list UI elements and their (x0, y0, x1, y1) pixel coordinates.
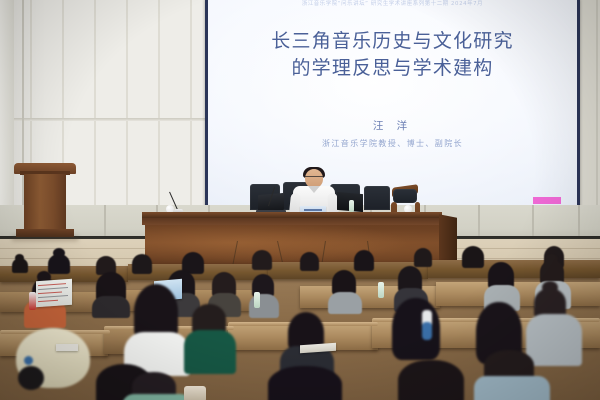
audience-cup-foreground (184, 386, 206, 400)
lectern (14, 163, 76, 241)
slide-speaker-name: 汪 洋 (208, 118, 577, 133)
bench-row-a-far-right (428, 260, 600, 278)
slide-title-line-1: 长三角音乐历史与文化研究 (230, 28, 555, 55)
wall-edge-left (0, 0, 14, 232)
lecture-hall-photo: 浙江音乐学院“问乐讲坛” 研究生学术讲座系列第十二期 2024年7月 长三角音乐… (0, 0, 600, 400)
lectern-top (14, 163, 76, 174)
audience-bottle-clear (378, 282, 384, 298)
glasses-icon (305, 176, 323, 181)
audience-bottle-red (29, 292, 36, 310)
pink-sticker (533, 197, 561, 204)
bench-papers-2 (56, 344, 78, 351)
projection-screen-frame: 浙江音乐学院“问乐讲坛” 研究生学术讲座系列第十二期 2024年7月 长三角音乐… (205, 0, 580, 214)
slide-title: 长三角音乐历史与文化研究 的学理反思与学术建构 (230, 28, 555, 82)
stage-chair-4 (364, 186, 390, 210)
projection-screen: 浙江音乐学院“问乐讲坛” 研究生学术讲座系列第十二期 2024年7月 长三角音乐… (208, 0, 577, 210)
slide-header-text: 浙江音乐学院“问乐讲坛” 研究生学术讲座系列第十二期 2024年7月 (208, 0, 577, 7)
slide-title-line-2: 的学理反思与学术建构 (230, 55, 555, 82)
side-armchair-cushion (393, 189, 417, 203)
lectern-body (24, 174, 66, 230)
audience-laptop-document (36, 279, 72, 308)
head-table-rail (142, 218, 442, 225)
lectern-shadow (12, 236, 78, 241)
audience-bottle-green (254, 292, 260, 308)
slide-speaker-affiliation: 浙江音乐学院教授、博士、副院长 (208, 138, 577, 149)
wall-panels-right (578, 0, 600, 232)
auditorium-seating (0, 268, 600, 400)
water-bottle-1 (349, 200, 354, 212)
